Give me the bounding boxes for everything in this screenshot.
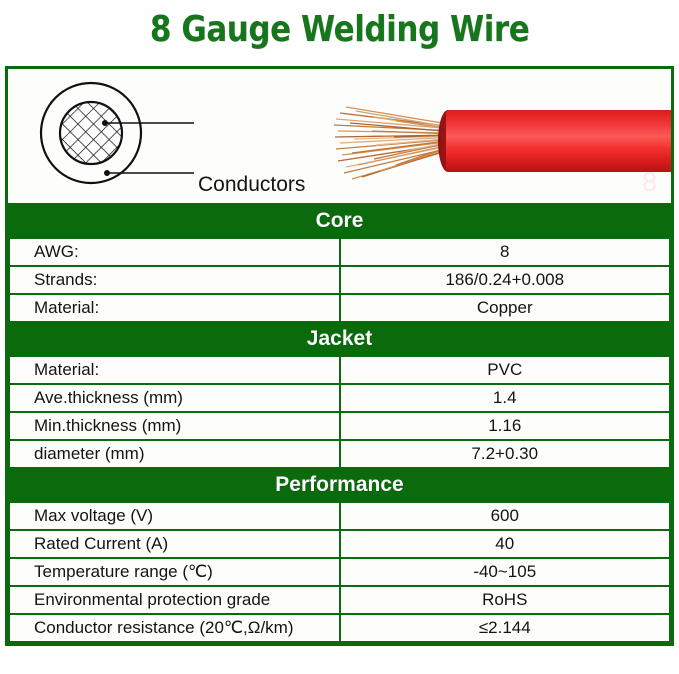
table-row: Max voltage (V) 600 xyxy=(9,502,670,530)
spec-key: diameter (mm) xyxy=(9,440,340,468)
section-header-row: Core xyxy=(9,204,670,238)
page-title: 8 Gauge Welding Wire xyxy=(150,9,529,50)
title-bar: 8 Gauge Welding Wire xyxy=(0,0,679,58)
spec-key: Ave.thickness (mm) xyxy=(9,384,340,412)
table-row: Strands: 186/0.24+0.008 xyxy=(9,266,670,294)
section-title: Performance xyxy=(9,468,670,502)
spec-value: -40~105 xyxy=(340,558,671,586)
conductors-inner-circle xyxy=(60,102,122,164)
spec-value: RoHS xyxy=(340,586,671,614)
spec-value: 40 xyxy=(340,530,671,558)
spec-value: PVC xyxy=(340,356,671,384)
section-title: Jacket xyxy=(9,322,670,356)
table-row: Material: Copper xyxy=(9,294,670,322)
spec-key: Conductor resistance (20℃,Ω/km) xyxy=(9,614,340,642)
spec-key: Temperature range (℃) xyxy=(9,558,340,586)
spec-key: Rated Current (A) xyxy=(9,530,340,558)
spec-value: Copper xyxy=(340,294,671,322)
specifications-table: Core AWG: 8 Strands: 186/0.24+0.008 Mate… xyxy=(8,203,671,643)
spec-value: ≤2.144 xyxy=(340,614,671,642)
spec-key: Material: xyxy=(9,294,340,322)
table-row: Environmental protection grade RoHS xyxy=(9,586,670,614)
table-row: Min.thickness (mm) 1.16 xyxy=(9,412,670,440)
spec-value: 7.2+0.30 xyxy=(340,440,671,468)
spec-key: Min.thickness (mm) xyxy=(9,412,340,440)
illustration-band: Conductors Jacket xyxy=(8,69,671,203)
cable-jacket-body: 8 Gauge xyxy=(446,110,671,172)
section-title: Core xyxy=(9,204,670,238)
table-row: AWG: 8 xyxy=(9,238,670,266)
table-row: Material: PVC xyxy=(9,356,670,384)
spec-value: 1.4 xyxy=(340,384,671,412)
spec-value: 8 xyxy=(340,238,671,266)
spec-value: 186/0.24+0.008 xyxy=(340,266,671,294)
cable-print-text: 8 Gauge xyxy=(642,167,671,198)
table-row: diameter (mm) 7.2+0.30 xyxy=(9,440,670,468)
cable-photo: 8 Gauge xyxy=(326,69,671,203)
table-row: Conductor resistance (20℃,Ω/km) ≤2.144 xyxy=(9,614,670,642)
product-spec-frame: Conductors Jacket xyxy=(5,66,674,646)
spec-key: Environmental protection grade xyxy=(9,586,340,614)
spec-value: 1.16 xyxy=(340,412,671,440)
spec-key: Material: xyxy=(9,356,340,384)
section-header-row: Jacket xyxy=(9,322,670,356)
section-header-row: Performance xyxy=(9,468,670,502)
spec-key: Strands: xyxy=(9,266,340,294)
table-row: Temperature range (℃) -40~105 xyxy=(9,558,670,586)
spec-key: AWG: xyxy=(9,238,340,266)
spec-key: Max voltage (V) xyxy=(9,502,340,530)
table-row: Ave.thickness (mm) 1.4 xyxy=(9,384,670,412)
spec-value: 600 xyxy=(340,502,671,530)
conductors-label: Conductors xyxy=(198,173,305,197)
table-row: Rated Current (A) 40 xyxy=(9,530,670,558)
